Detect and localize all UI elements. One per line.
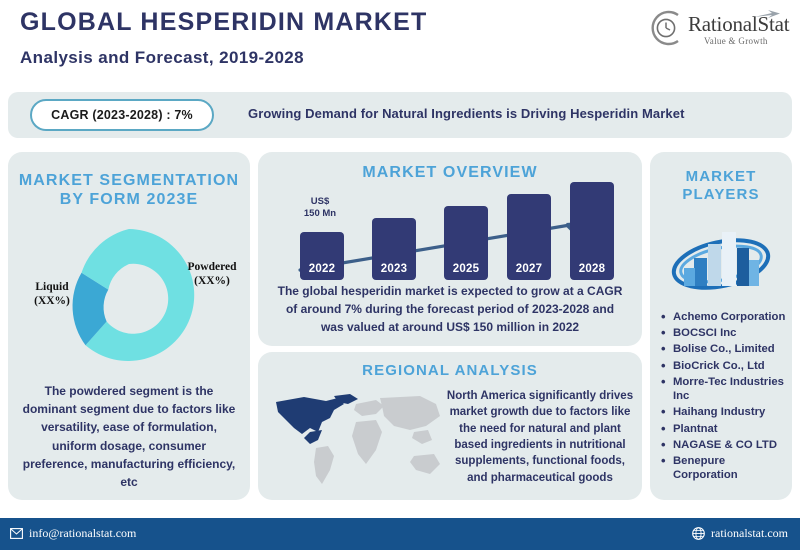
bar-label-2022: 2022 (309, 263, 335, 275)
map-region-north-america (276, 397, 344, 434)
list-item: Plantnat (660, 422, 788, 436)
footer-email[interactable]: info@rationalstat.com (10, 526, 136, 541)
infographic-page: GLOBAL HESPERIDIN MARKET Analysis and Fo… (0, 0, 800, 550)
swoosh-arrow-icon (754, 10, 780, 20)
bar-label-2023: 2023 (381, 263, 407, 275)
market-segmentation-panel: MARKET SEGMENTATION BY FORM 2023E Liquid… (8, 152, 250, 500)
bar-label-2025: 2025 (453, 263, 479, 275)
footer-website-text: rationalstat.com (711, 526, 788, 541)
brand-logo: RationalStat Value & Growth (646, 8, 786, 54)
bar-2028: 2028 (570, 182, 614, 280)
market-overview-panel: MARKET OVERVIEW US$ 150 Mn 2022 2023 202… (258, 152, 642, 346)
bar-label-2027: 2027 (516, 263, 542, 275)
segmentation-description: The powdered segment is the dominant seg… (22, 382, 236, 491)
map-region-australia (410, 454, 440, 474)
list-item: Achemo Corporation (660, 310, 788, 324)
regional-heading: REGIONAL ANALYSIS (258, 362, 642, 380)
map-region-central-america (304, 430, 322, 444)
page-subtitle: Analysis and Forecast, 2019-2028 (20, 48, 304, 68)
map-region-europe (354, 400, 384, 416)
bar-2027: 2027 (507, 194, 551, 280)
cagr-banner: CAGR (2023-2028) : 7% Growing Demand for… (8, 92, 792, 138)
clock-arc-icon (646, 8, 686, 48)
footer-website[interactable]: rationalstat.com (692, 526, 788, 541)
list-item: BioCrick Co., Ltd (660, 359, 788, 373)
list-item: Bolise Co., Limited (660, 342, 788, 356)
world-map-icon (264, 388, 450, 492)
list-item: Benepure Corporation (660, 454, 788, 482)
list-item: BOCSCI Inc (660, 326, 788, 340)
cityscape-swoosh-icon (666, 218, 776, 298)
globe-icon (692, 527, 705, 540)
map-region-south-america (314, 446, 334, 484)
list-item: Haihang Industry (660, 405, 788, 419)
list-item: Morre-Tec Industries Inc (660, 375, 788, 403)
overview-bar-chart: US$ 150 Mn 2022 2023 2025 2027 2028 (258, 188, 642, 280)
map-region-asia (380, 396, 440, 430)
bar-2022: 2022 (300, 232, 344, 280)
footer-email-text: info@rationalstat.com (29, 526, 136, 541)
header: GLOBAL HESPERIDIN MARKET Analysis and Fo… (0, 0, 800, 90)
donut-label-powdered-value: (XX%) (174, 274, 250, 288)
market-players-panel: MARKET PLAYERS Achemo Corporation BOCSCI… (650, 152, 792, 500)
bar-label-2028: 2028 (579, 263, 605, 275)
banner-headline: Growing Demand for Natural Ingredients i… (248, 106, 685, 121)
bar-2023: 2023 (372, 218, 416, 280)
donut-label-powdered-name: Powdered (174, 260, 250, 274)
segmentation-heading: MARKET SEGMENTATION BY FORM 2023E (18, 172, 240, 210)
overview-heading: MARKET OVERVIEW (258, 164, 642, 183)
regional-analysis-panel: REGIONAL ANALYSIS North America sig (258, 352, 642, 500)
donut-label-liquid-name: Liquid (16, 280, 88, 294)
cagr-badge: CAGR (2023-2028) : 7% (30, 99, 214, 131)
bar-2025: 2025 (444, 206, 488, 280)
bar-value-annotation-line1: US$ (294, 196, 346, 208)
list-item: NAGASE & CO LTD (660, 438, 788, 452)
regional-description: North America significantly drives marke… (446, 388, 634, 486)
players-list: Achemo Corporation BOCSCI Inc Bolise Co.… (660, 310, 788, 484)
donut-label-liquid-value: (XX%) (16, 294, 88, 308)
players-logo (666, 218, 776, 298)
donut-label-liquid: Liquid (XX%) (16, 280, 88, 309)
brand-tagline: Value & Growth (704, 36, 768, 46)
players-heading: MARKET PLAYERS (656, 168, 786, 203)
donut-label-powdered: Powdered (XX%) (174, 260, 250, 289)
footer: info@rationalstat.com rationalstat.com (0, 518, 800, 550)
map-region-southeast-asia (412, 430, 432, 444)
world-map (264, 388, 450, 492)
overview-description: The global hesperidin market is expected… (274, 282, 626, 336)
page-title: GLOBAL HESPERIDIN MARKET (20, 8, 428, 37)
envelope-icon (10, 528, 23, 539)
map-region-africa (352, 420, 382, 464)
